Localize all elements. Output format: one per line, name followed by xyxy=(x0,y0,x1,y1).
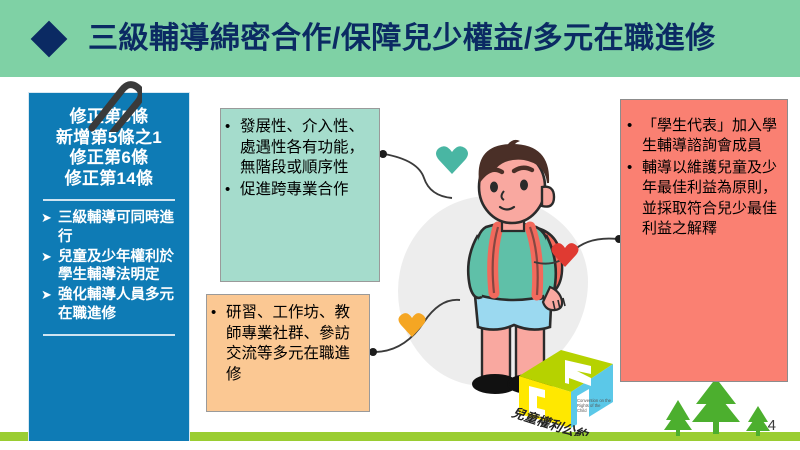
bullet-icon: • xyxy=(225,180,240,200)
functions-list: • 發展性、介入性、處遇性各有功能，無階段或順序性 • 促進跨專業合作 xyxy=(225,117,373,200)
list-item: • 輔導以維護兒童及少年最佳利益為原則，並採取符合兒少最佳利益之解釋 xyxy=(627,158,779,240)
list-item-label: 三級輔導可同時進行 xyxy=(58,209,179,247)
page-title: 三級輔導綿密合作/保障兒少權益/多元在職進修 xyxy=(88,24,716,54)
bullet-icon: • xyxy=(627,116,642,136)
crc-english-line3: Child xyxy=(577,408,587,413)
list-item-label: 輔導以維護兒童及少年最佳利益為原則，並採取符合兒少最佳利益之解釋 xyxy=(642,158,779,240)
training-list: • 研習、工作坊、教師專業社群、參訪交流等多元在職進修 xyxy=(211,303,363,385)
connector-dot xyxy=(369,348,377,356)
functions-callout: • 發展性、介入性、處遇性各有功能，無階段或順序性 • 促進跨專業合作 xyxy=(220,108,380,282)
arrow-bullet-icon: ➤ xyxy=(41,209,58,228)
pine-trees-decor xyxy=(660,378,780,436)
training-callout: • 研習、工作坊、教師專業社群、參訪交流等多元在職進修 xyxy=(206,294,370,412)
bullet-icon: • xyxy=(627,158,642,178)
crc-logo: Convention on the Rights of the Child 兒童… xyxy=(505,332,623,436)
list-item: • 發展性、介入性、處遇性各有功能，無階段或順序性 xyxy=(225,117,373,179)
diamond-icon xyxy=(31,20,68,57)
bullet-icon: • xyxy=(225,117,240,137)
amendment-line: 修正第6條 xyxy=(37,148,181,169)
arrow-bullet-icon: ➤ xyxy=(41,248,58,267)
list-item-label: 促進跨專業合作 xyxy=(240,180,373,201)
amendments-list: ➤ 三級輔導可同時進行 ➤ 兒童及少年權利於學生輔導法明定 ➤ 強化輔導人員多元… xyxy=(37,209,181,324)
list-item: ➤ 三級輔導可同時進行 xyxy=(41,209,179,247)
list-item: • 促進跨專業合作 xyxy=(225,180,373,201)
list-item-label: 研習、工作坊、教師專業社群、參訪交流等多元在職進修 xyxy=(226,303,363,385)
divider xyxy=(43,334,175,336)
list-item-label: 「學生代表」加入學生輔導諮詢會成員 xyxy=(642,116,779,157)
arrow-bullet-icon: ➤ xyxy=(41,286,58,305)
amendment-line: 修正第14條 xyxy=(37,169,181,190)
bullet-icon: • xyxy=(211,303,226,323)
list-item-label: 強化輔導人員多元在職進修 xyxy=(58,286,179,324)
amendments-panel: 修正第5條 新增第5條之1 修正第6條 修正第14條 ➤ 三級輔導可同時進行 ➤… xyxy=(28,92,190,435)
pine-tree-icon xyxy=(746,406,770,436)
divider xyxy=(43,199,175,201)
list-item: • 「學生代表」加入學生輔導諮詢會成員 xyxy=(627,116,779,157)
student-rights-callout: • 「學生代表」加入學生輔導諮詢會成員 • 輔導以維護兒童及少年最佳利益為原則，… xyxy=(620,99,788,382)
list-item: ➤ 兒童及少年權利於學生輔導法明定 xyxy=(41,248,179,286)
pine-tree-icon xyxy=(664,400,692,436)
list-item: • 研習、工作坊、教師專業社群、參訪交流等多元在職進修 xyxy=(211,303,363,385)
list-item: ➤ 強化輔導人員多元在職進修 xyxy=(41,286,179,324)
list-item-label: 發展性、介入性、處遇性各有功能，無階段或順序性 xyxy=(240,117,373,179)
page-number: 4 xyxy=(768,417,776,434)
pine-tree-icon xyxy=(692,378,740,434)
connector-dot xyxy=(379,150,387,158)
paperclip-icon xyxy=(82,74,142,132)
slide: 三級輔導綿密合作/保障兒少權益/多元在職進修 xyxy=(0,0,800,450)
student-rights-list: • 「學生代表」加入學生輔導諮詢會成員 • 輔導以維護兒童及少年最佳利益為原則，… xyxy=(627,116,779,239)
slide-header: 三級輔導綿密合作/保障兒少權益/多元在職進修 xyxy=(0,0,800,77)
list-item-label: 兒童及少年權利於學生輔導法明定 xyxy=(58,248,179,286)
blue-panel-foot xyxy=(28,432,190,441)
